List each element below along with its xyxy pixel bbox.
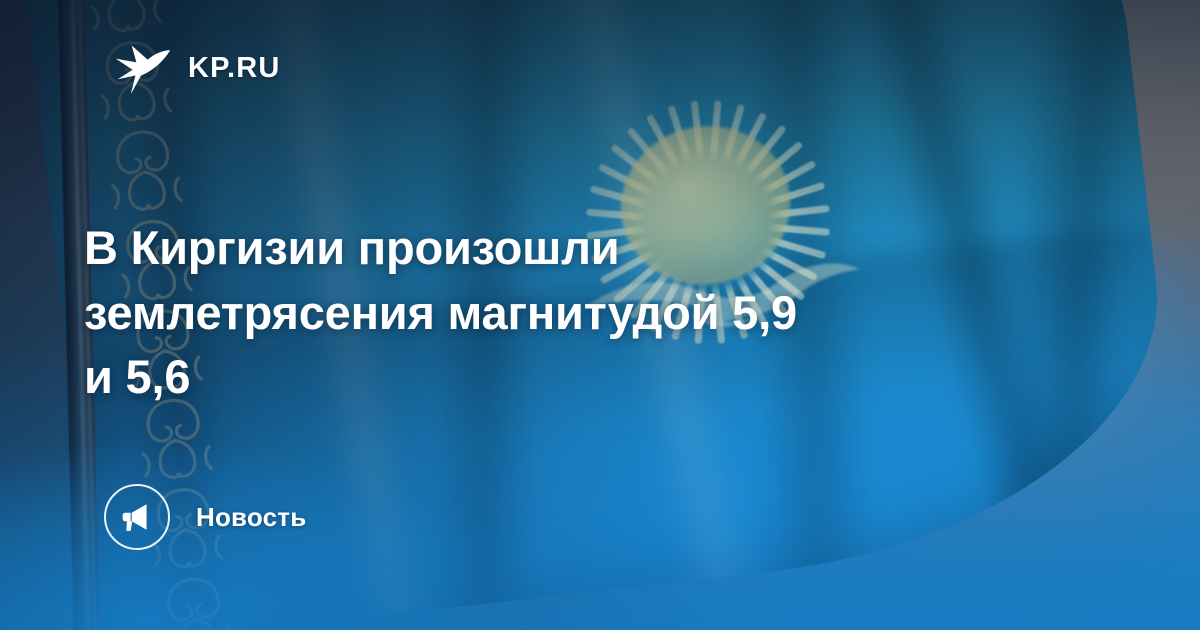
card-content: KP.RU В Киргизии произошли землетрясения… xyxy=(0,0,1200,630)
status-badge[interactable]: Новость xyxy=(104,484,306,550)
brand-logo[interactable]: KP.RU xyxy=(112,38,281,98)
brand-name: KP.RU xyxy=(188,54,281,83)
megaphone-icon xyxy=(120,500,154,534)
badge-label: Новость xyxy=(196,502,306,533)
page-title: В Киргизии произошли землетрясения магни… xyxy=(84,216,984,409)
badge-icon-ring xyxy=(104,484,170,550)
news-share-card: KP.RU В Киргизии произошли землетрясения… xyxy=(0,0,1200,630)
swallow-bird-icon xyxy=(112,38,172,98)
